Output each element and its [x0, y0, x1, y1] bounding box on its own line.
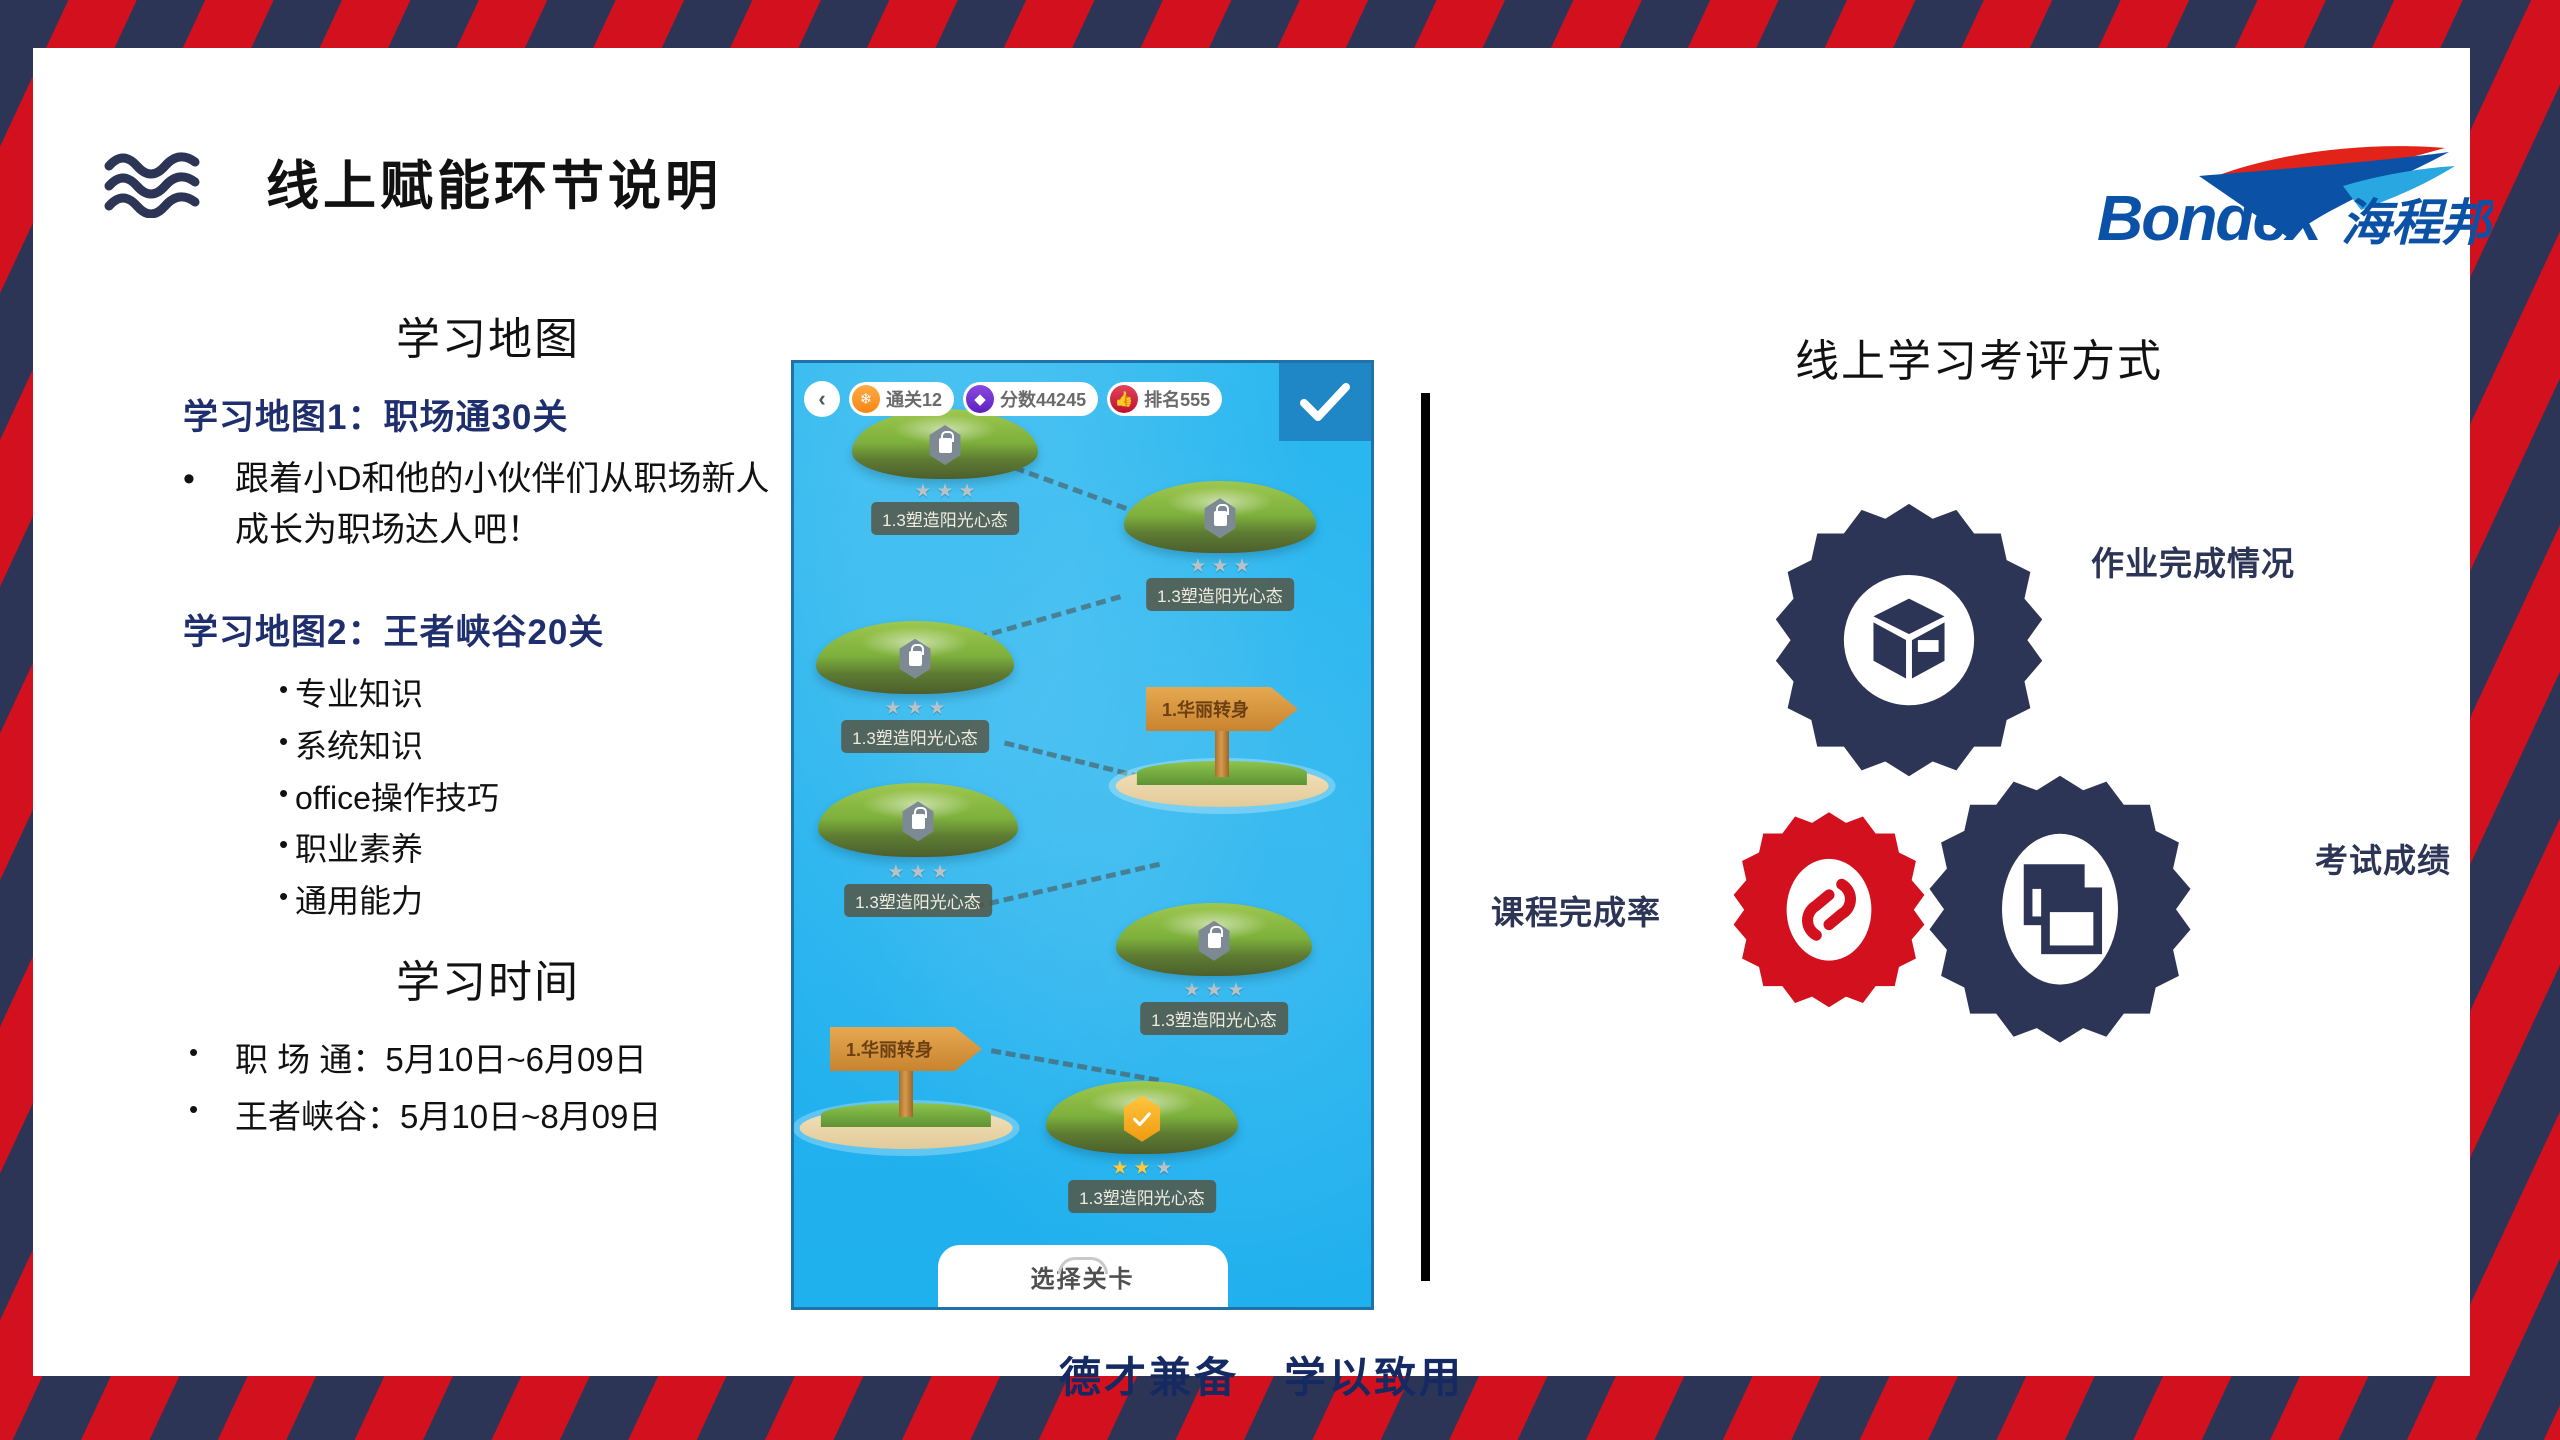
list-item: 王者峡谷：5月10日~8月09日 — [183, 1089, 793, 1146]
gear-exam-score — [1915, 770, 2205, 1060]
stat-pill-levels[interactable]: ❄ 通关12 — [849, 382, 954, 416]
list-item: 系统知识 — [183, 721, 793, 773]
gear-label-course-completion: 课程完成率 — [1491, 886, 1661, 934]
wave-icon — [103, 146, 208, 218]
svg-text:Bondex: Bondex — [2097, 182, 2324, 254]
phone-screenshot: ★★★ 1.3塑造阳光心态 ★★★ 1.3塑造阳光心态 ★★★ 1.3塑造阳光心… — [791, 360, 1374, 1310]
level-label: 1.3塑造阳光心态 — [1146, 578, 1294, 611]
handle-arc — [1058, 1257, 1108, 1274]
stat-label: 分数44245 — [1000, 386, 1086, 412]
signpost-label: 1.华丽转身 — [846, 1036, 933, 1062]
gear-label-homework: 作业完成情况 — [2091, 537, 2295, 585]
bullet-dot: • — [183, 454, 235, 505]
level-island[interactable]: ★★★ 1.3塑造阳光心态 — [818, 783, 1018, 911]
stat-pill-rank[interactable]: 👍 排名555 — [1107, 382, 1222, 416]
map2-topic-list: 专业知识 系统知识 office操作技巧 职业素养 通用能力 — [183, 669, 793, 928]
stat-pill-score[interactable]: ◆ 分数44245 — [963, 382, 1098, 416]
level-label: 1.3塑造阳光心态 — [1140, 1002, 1288, 1035]
map2-heading: 学习地图2：王者峡谷20关 — [183, 604, 793, 655]
level-label: 1.3塑造阳光心态 — [844, 884, 992, 917]
gear-course-completion — [1723, 808, 1935, 1020]
select-level-button[interactable]: 选择关卡 — [938, 1245, 1228, 1307]
map1-bullet-row: • 跟着小D和他的小伙伴们从职场新人成长为职场达人吧！ — [183, 454, 793, 556]
gem-icon: ◆ — [966, 385, 994, 413]
star-rating: ★★★ — [884, 699, 945, 718]
game-hud: ‹ ❄ 通关12 ◆ 分数44245 👍 排名555 — [804, 381, 1222, 417]
gear-label-exam-score: 考试成绩 — [2315, 834, 2451, 882]
list-item: 专业知识 — [183, 669, 793, 721]
star-rating: ★★★ — [1189, 557, 1250, 576]
learning-time-section-title: 学习时间 — [183, 946, 793, 1010]
map1-heading: 学习地图1：职场通30关 — [183, 389, 793, 440]
white-content-card: 线上赋能环节说明 Bondex 海程邦达 学习地图 学习地图1：职场通30关 •… — [33, 48, 2470, 1376]
level-island-completed[interactable]: ★★★ 1.3塑造阳光心态 — [1046, 1081, 1238, 1207]
stat-label: 通关12 — [886, 386, 942, 412]
bondex-logo: Bondex 海程邦达 — [2093, 136, 2493, 254]
thumb-icon: 👍 — [1110, 385, 1138, 413]
map1-bullet-text: 跟着小D和他的小伙伴们从职场新人成长为职场达人吧！ — [235, 454, 793, 556]
signpost[interactable]: 1.华丽转身 — [830, 1027, 982, 1149]
star-rating: ★★★ — [1111, 1159, 1172, 1178]
level-island[interactable]: ★★★ 1.3塑造阳光心态 — [816, 621, 1014, 747]
list-item: office操作技巧 — [183, 773, 793, 825]
evaluation-section-title: 线上学习考评方式 — [1795, 325, 2163, 389]
slide-root: 线上赋能环节说明 Bondex 海程邦达 学习地图 学习地图1：职场通30关 •… — [0, 0, 2560, 1440]
star-rating: ★★★ — [887, 863, 948, 882]
level-label: 1.3塑造阳光心态 — [1068, 1180, 1216, 1213]
page-title: 线上赋能环节说明 — [266, 144, 722, 220]
signpost-board: 1.华丽转身 — [1146, 687, 1298, 731]
learning-map-section-title: 学习地图 — [183, 303, 793, 367]
left-column: 学习地图 学习地图1：职场通30关 • 跟着小D和他的小伙伴们从职场新人成长为职… — [183, 303, 793, 1146]
level-label: 1.3塑造阳光心态 — [871, 502, 1019, 535]
list-item: 职业素养 — [183, 824, 793, 876]
level-island[interactable]: ★★★ 1.3塑造阳光心态 — [1116, 903, 1312, 1029]
signpost[interactable]: 1.华丽转身 — [1146, 687, 1298, 807]
flame-icon: ❄ — [852, 385, 880, 413]
vertical-divider — [1421, 393, 1430, 1281]
chevron-left-icon[interactable]: ‹ — [804, 381, 840, 417]
gear-homework — [1761, 498, 2057, 794]
stat-label: 排名555 — [1144, 386, 1210, 412]
level-island[interactable]: ★★★ 1.3塑造阳光心态 — [852, 409, 1038, 529]
svg-text:海程邦达: 海程邦达 — [2341, 195, 2493, 251]
signpost-board: 1.华丽转身 — [830, 1027, 982, 1071]
signpost-label: 1.华丽转身 — [1162, 696, 1249, 722]
level-island[interactable]: ★★★ 1.3塑造阳光心态 — [1124, 481, 1316, 605]
star-rating: ★★★ — [914, 482, 975, 501]
list-item: 职 场 通：5月10日~6月09日 — [183, 1032, 793, 1089]
learning-time-list: 职 场 通：5月10日~6月09日 王者峡谷：5月10日~8月09日 — [183, 1032, 793, 1146]
footer-slogan: 德才兼备 学以致用 — [1059, 1344, 1464, 1405]
list-item: 通用能力 — [183, 876, 793, 928]
check-icon[interactable] — [1279, 363, 1371, 441]
level-label: 1.3塑造阳光心态 — [841, 720, 989, 753]
star-rating: ★★★ — [1183, 981, 1244, 1000]
